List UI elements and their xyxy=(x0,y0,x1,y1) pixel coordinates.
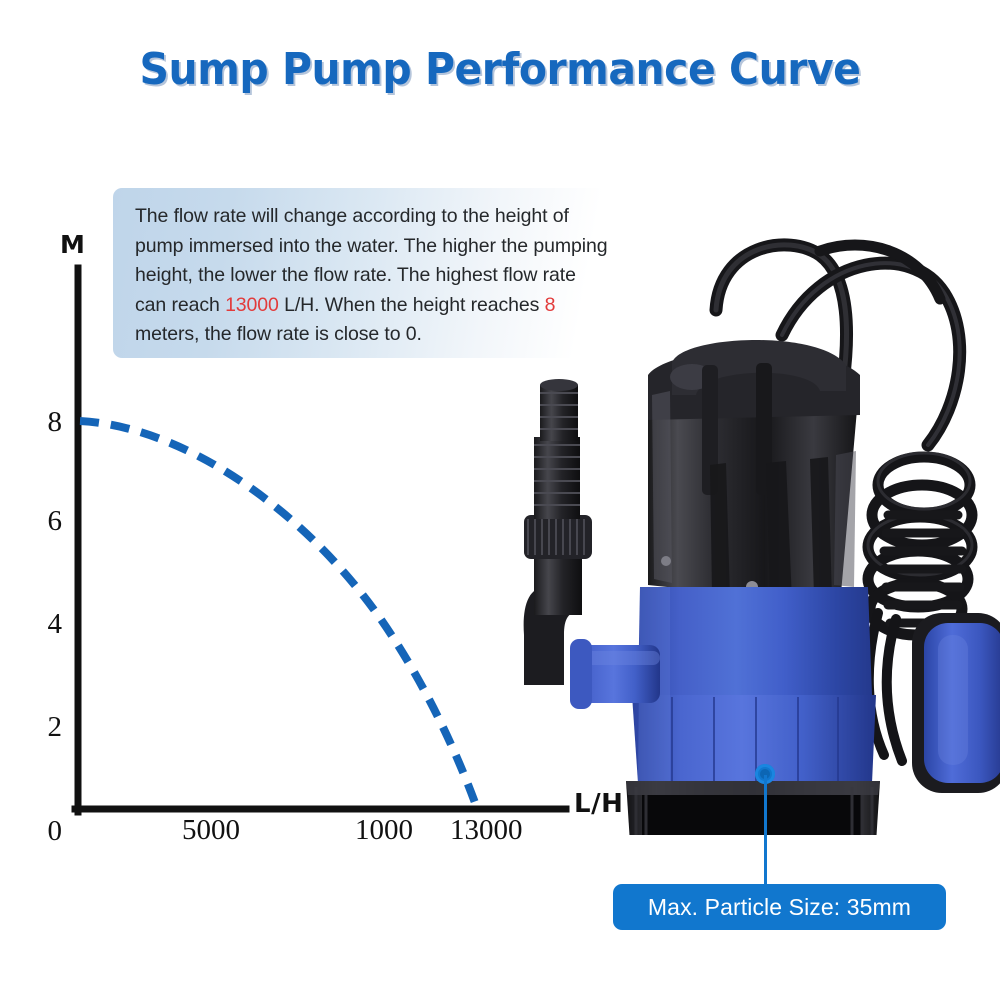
page-root: Sump Pump Performance Curve xyxy=(0,0,1000,1000)
y-tick-6: 6 xyxy=(22,505,62,538)
y-tick-4: 4 xyxy=(22,608,62,641)
y-tick-0: 0 xyxy=(22,815,62,848)
y-tick-2: 2 xyxy=(22,711,62,744)
x-tick-5000: 5000 xyxy=(182,814,240,847)
y-tick-8: 8 xyxy=(22,406,62,439)
axis-label-y: M xyxy=(60,230,85,259)
particle-size-badge: Max. Particle Size: 35mm xyxy=(613,884,946,930)
x-tick-13000: 13000 xyxy=(450,814,523,847)
particle-size-label: Max. Particle Size: 35mm xyxy=(648,894,911,921)
callout-leader-line xyxy=(764,775,767,885)
axis-label-x: L/H xyxy=(574,789,623,819)
performance-chart: M L/H 8 6 4 2 0 5000 1000 13000 xyxy=(0,0,640,900)
x-tick-1000: 1000 xyxy=(355,814,413,847)
